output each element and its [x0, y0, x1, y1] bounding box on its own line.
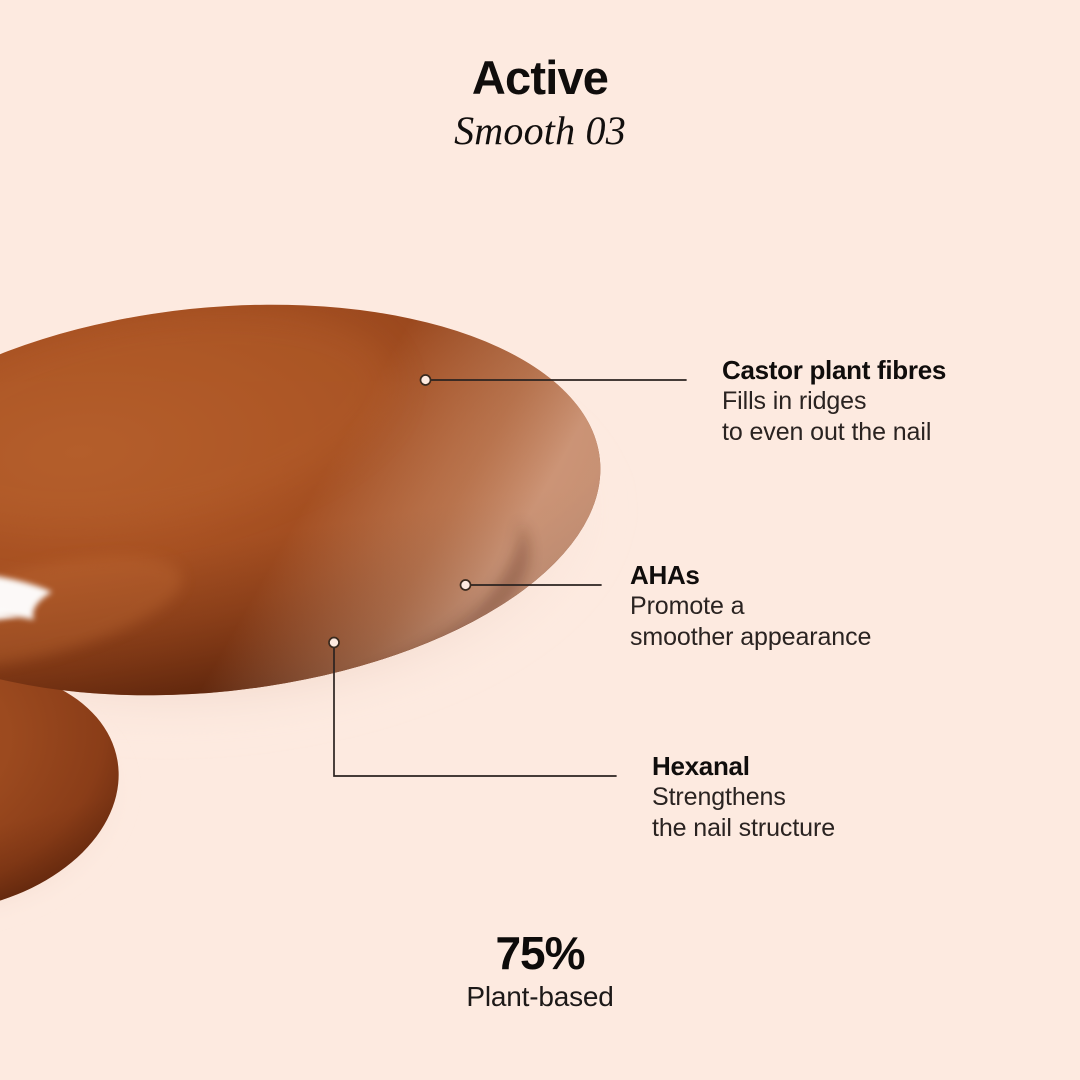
annotation-title: Hexanal	[652, 751, 835, 782]
page-title: Active	[0, 52, 1080, 104]
leader-marker-hexanal	[329, 638, 339, 648]
plant-based-stat: 75% Plant-based	[0, 928, 1080, 1014]
annotation-body-line: to even out the nail	[722, 417, 946, 448]
annotation-body-line: Strengthens	[652, 782, 835, 813]
annotation-body-line: the nail structure	[652, 813, 835, 844]
annotation-title: Castor plant fibres	[722, 355, 946, 386]
leader-lines	[0, 0, 1080, 1080]
page-subtitle: Smooth 03	[0, 107, 1080, 155]
leader-marker-castor-plant-fibres	[421, 375, 431, 385]
leader-marker-ahas	[461, 580, 471, 590]
stat-value: 75%	[0, 928, 1080, 978]
annotation-castor-plant-fibres: Castor plant fibres Fills in ridges to e…	[722, 355, 946, 448]
header: Active Smooth 03	[0, 52, 1080, 155]
annotation-body-line: Promote a	[630, 591, 871, 622]
annotation-body-line: Fills in ridges	[722, 386, 946, 417]
leader-line-ahas	[461, 580, 602, 590]
annotation-title: AHAs	[630, 560, 871, 591]
annotation-hexanal: Hexanal Strengthens the nail structure	[652, 751, 835, 844]
annotation-body-line: smoother appearance	[630, 622, 871, 653]
leader-line-castor-plant-fibres	[421, 375, 687, 385]
annotation-ahas: AHAs Promote a smoother appearance	[630, 560, 871, 653]
product-infographic: Active Smooth 03 Castor plant fibres Fil…	[0, 0, 1080, 1080]
leader-line-hexanal	[329, 638, 616, 777]
stat-label: Plant-based	[0, 980, 1080, 1014]
